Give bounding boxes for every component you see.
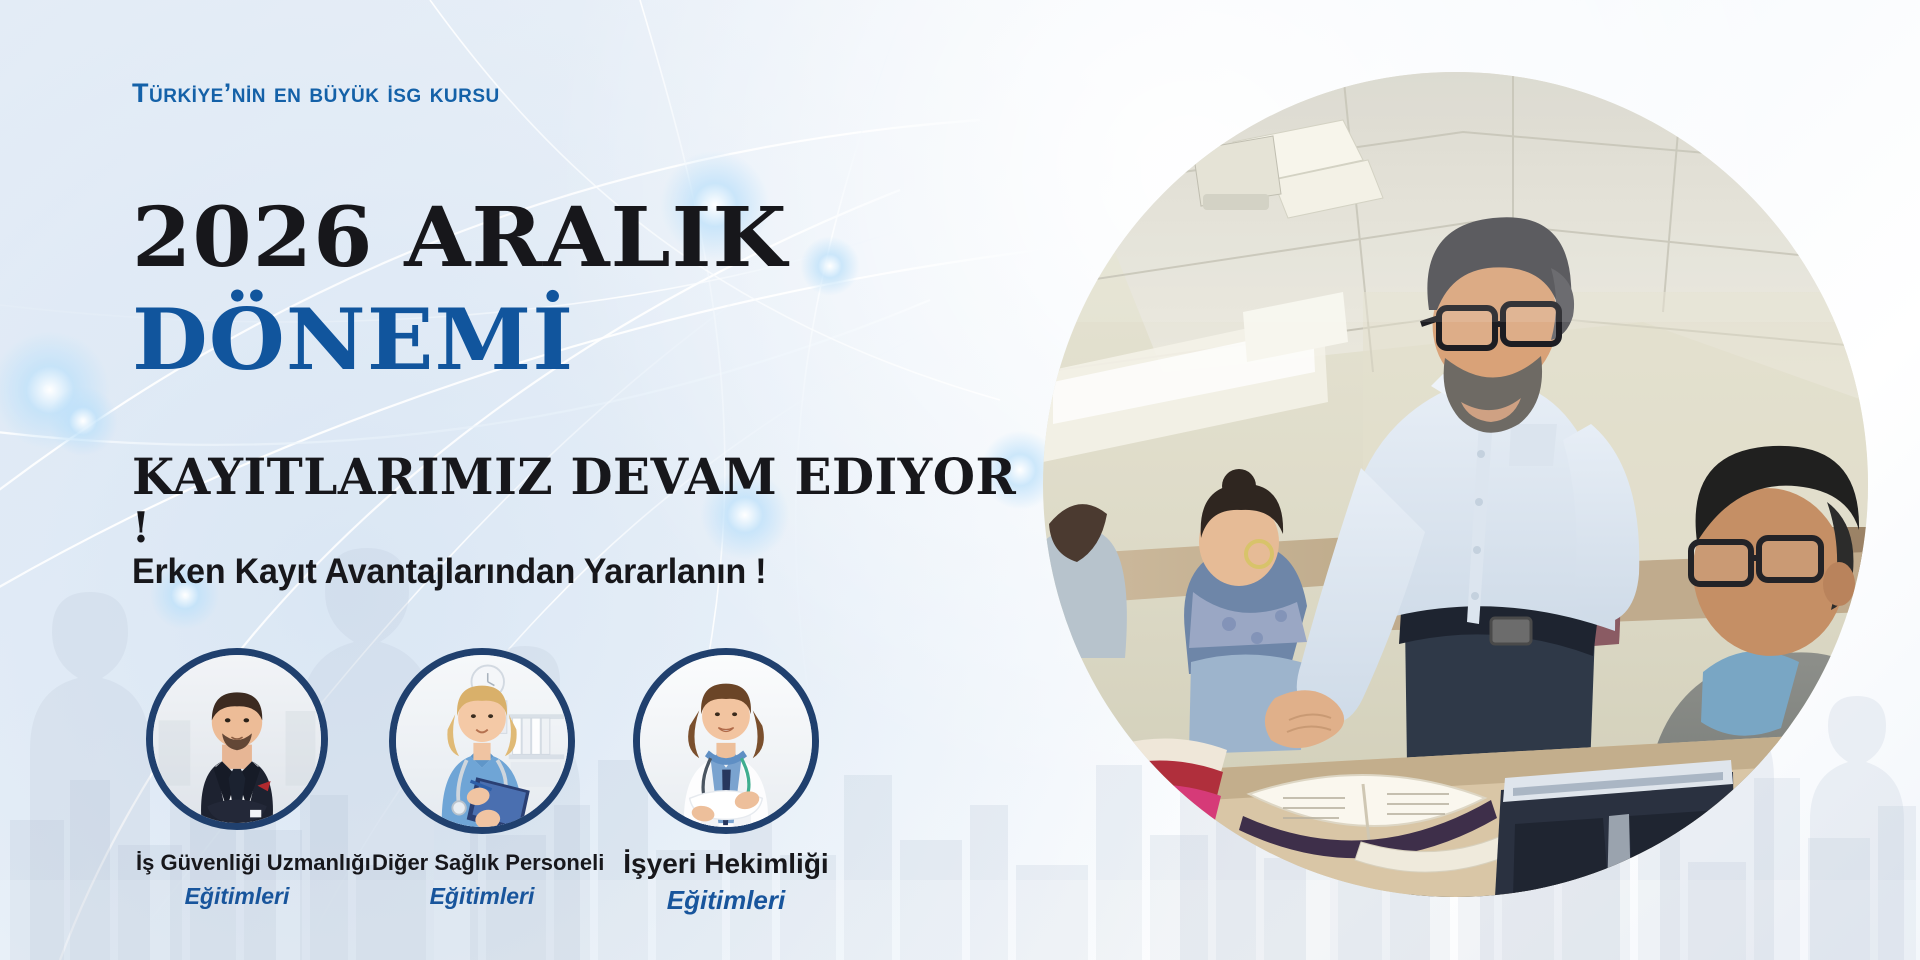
- course-card-subtitle: Eğitimleri: [612, 886, 840, 916]
- doctor-photo: [640, 655, 812, 827]
- avatar: [389, 648, 575, 834]
- eyebrow-text: Türkiye’nin En Büyük İSG Kursu: [132, 78, 500, 109]
- businessman-photo: [153, 655, 321, 823]
- promo-banner: Türkiye’nin En Büyük İSG Kursu 2026 ARAL…: [0, 0, 1920, 960]
- course-card-subtitle: Eğitimleri: [136, 883, 338, 909]
- headline-period: DÖNEMİ: [132, 300, 574, 380]
- course-card-title: İşyeri Hekimliği: [612, 848, 840, 880]
- course-card-subtitle: Eğitimleri: [372, 883, 592, 909]
- course-card-is-guvenligi-uzmanligi[interactable]: İş Güvenliği Uzmanlığı Eğitimleri: [136, 648, 338, 910]
- headline-status-text: KAYITLARIMIZ DEVAM EDIYOR: [132, 447, 1016, 506]
- course-card-diger-saglik-personeli[interactable]: Diğer Sağlık Personeli Eğitimleri: [372, 648, 592, 910]
- course-card-title: İş Güvenliği Uzmanlığı: [136, 850, 338, 875]
- avatar: [146, 648, 328, 830]
- headline-status: KAYITLARIMIZ DEVAM EDIYOR !: [132, 452, 1032, 552]
- headline-year: 2026 ARALIK: [132, 200, 788, 278]
- headline-status-mark: !: [132, 503, 150, 552]
- subheadline: Erken Kayıt Avantajlarından Yararlanın !: [132, 552, 766, 592]
- course-card-title: Diğer Sağlık Personeli: [372, 850, 592, 875]
- course-card-isyeri-hekimligi[interactable]: İşyeri Hekimliği Eğitimleri: [612, 648, 840, 916]
- nurse-photo: [396, 655, 568, 827]
- classroom-scene: [1043, 72, 1868, 897]
- hero-photo: [1043, 72, 1868, 897]
- avatar: [633, 648, 819, 834]
- course-card-list: İş Güvenliği Uzmanlığı Eğitimleri: [0, 648, 1020, 948]
- headline-column: Türkiye’nin En Büyük İSG Kursu 2026 ARAL…: [0, 0, 1060, 960]
